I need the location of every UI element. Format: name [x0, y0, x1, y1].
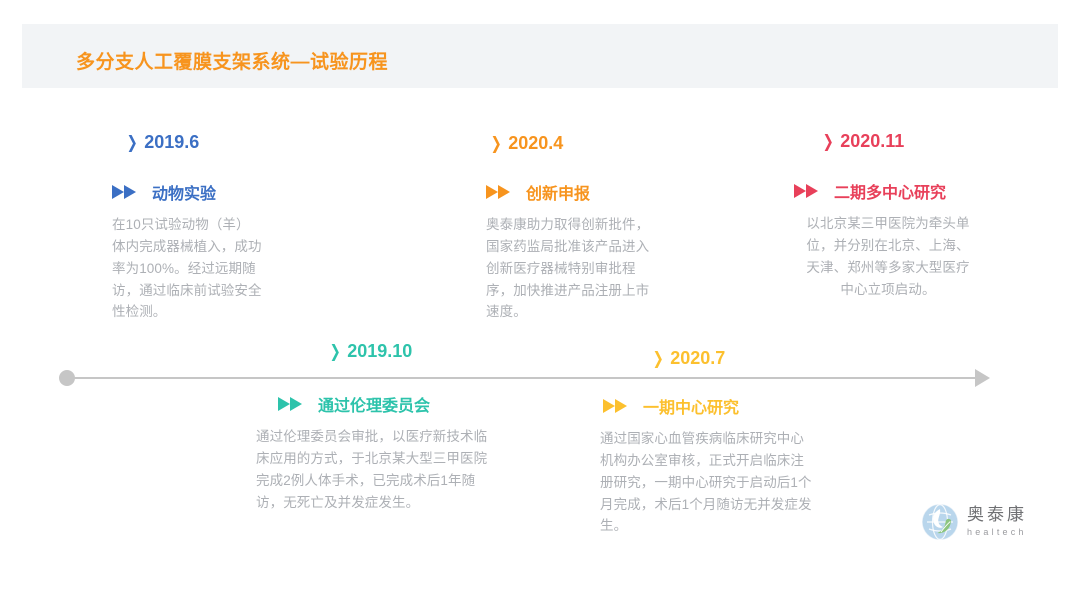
globe-leaf-logo-icon — [921, 503, 959, 541]
milestone-body: 在10只试验动物（羊）体内完成器械植入，成功率为100%。经过远期随访，通过临床… — [112, 214, 262, 323]
timeline-arrow-icon — [975, 369, 990, 387]
milestone-title: 动物实验 — [152, 180, 216, 204]
timeline-axis-line — [67, 377, 975, 379]
milestone-title-row: 通过伦理委员会 — [278, 392, 488, 416]
milestone-year: 2019.6 — [144, 132, 199, 153]
milestone-body: 以北京某三甲医院为牵头单位，并分别在北京、上海、天津、郑州等多家大型医疗中心立项… — [804, 213, 972, 300]
milestone-2020-7[interactable]: ❯ 2020.7 一期中心研究 通过国家心血管疾病临床研究中心机构办公室审核，正… — [645, 348, 812, 537]
fast-forward-icon — [278, 397, 304, 411]
chevron-right-icon: ❯ — [653, 349, 664, 369]
milestone-title-row: 二期多中心研究 — [794, 179, 972, 203]
page-title: 多分支人工覆膜支架系统—试验历程 — [76, 47, 388, 74]
company-logo: 奥泰康 healtech — [921, 503, 1027, 541]
fast-forward-icon — [794, 184, 820, 198]
milestone-2020-4[interactable]: ❯ 2020.4 创新申报 奥泰康助力取得创新批件，国家药监局批准该产品进入创新… — [486, 133, 658, 323]
milestone-title: 创新申报 — [526, 180, 590, 204]
milestone-2020-11[interactable]: ❯ 2020.11 二期多中心研究 以北京某三甲医院为牵头单位，并分别在北京、上… — [804, 131, 972, 300]
chevron-right-icon: ❯ — [491, 134, 502, 154]
fast-forward-icon — [112, 185, 138, 199]
milestone-year-row: ❯ 2020.7 — [651, 348, 812, 369]
chevron-right-icon: ❯ — [127, 133, 138, 153]
milestone-title-row: 动物实验 — [112, 180, 262, 204]
logo-wordmark: 奥泰康 healtech — [967, 506, 1027, 538]
milestone-year: 2019.10 — [347, 341, 412, 362]
logo-name-en: healtech — [967, 526, 1027, 539]
logo-name-cn: 奥泰康 — [967, 506, 1027, 524]
milestone-2019-6[interactable]: ❯ 2019.6 动物实验 在10只试验动物（羊）体内完成器械植入，成功率为10… — [112, 132, 262, 323]
milestone-title: 一期中心研究 — [643, 394, 739, 418]
milestone-title-row: 创新申报 — [486, 180, 658, 204]
milestone-body: 奥泰康助力取得创新批件，国家药监局批准该产品进入创新医疗器械特别审批程序，加快推… — [486, 214, 658, 323]
chevron-right-icon: ❯ — [823, 132, 834, 152]
milestone-year-row: ❯ 2020.11 — [821, 131, 972, 152]
milestone-year-row: ❯ 2019.10 — [328, 341, 488, 362]
milestone-body: 通过国家心血管疾病临床研究中心机构办公室审核，正式开启临床注册研究，一期中心研究… — [600, 428, 812, 537]
chevron-right-icon: ❯ — [330, 342, 341, 362]
fast-forward-icon — [486, 185, 512, 199]
milestone-body: 通过伦理委员会审批，以医疗新技术临床应用的方式，于北京某大型三甲医院完成2例人体… — [256, 426, 488, 513]
milestone-2019-10[interactable]: ❯ 2019.10 通过伦理委员会 通过伦理委员会审批，以医疗新技术临床应用的方… — [318, 341, 488, 513]
milestone-title-row: 一期中心研究 — [603, 394, 812, 418]
milestone-year: 2020.11 — [840, 131, 904, 152]
milestone-title: 通过伦理委员会 — [318, 392, 430, 416]
milestone-year: 2020.7 — [670, 348, 725, 369]
milestone-year-row: ❯ 2020.4 — [489, 133, 658, 154]
fast-forward-icon — [603, 399, 629, 413]
milestone-year-row: ❯ 2019.6 — [125, 132, 262, 153]
milestone-title: 二期多中心研究 — [834, 179, 946, 203]
milestone-year: 2020.4 — [508, 133, 563, 154]
